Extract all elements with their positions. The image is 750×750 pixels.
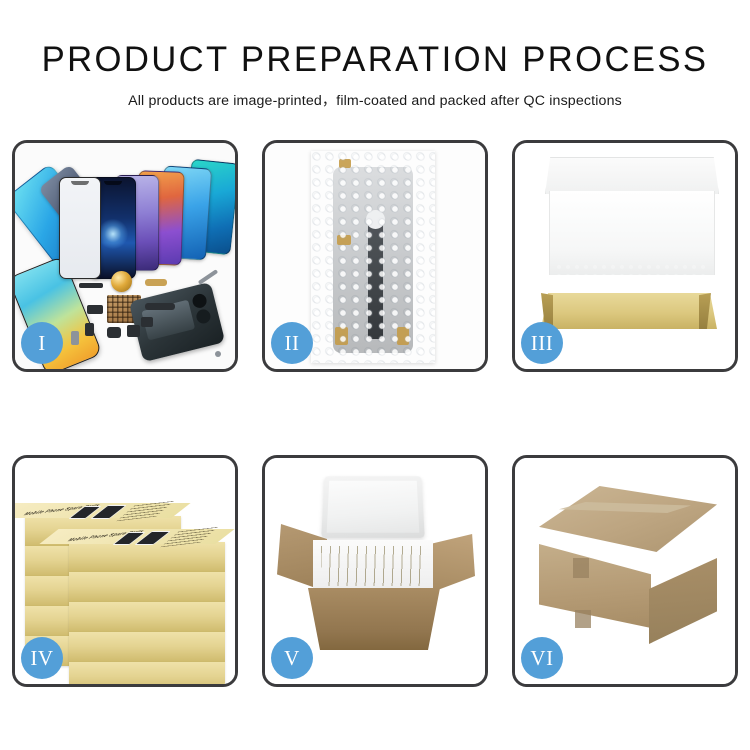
glass-notch-cutout xyxy=(71,181,89,185)
stacked-box-front-3 xyxy=(69,602,225,632)
process-steps-grid: I II xyxy=(12,140,738,687)
carton-front-face xyxy=(539,544,651,628)
tempered-glass-protector xyxy=(59,177,101,279)
tiny-chip-part xyxy=(85,323,94,336)
step-badge-1: I xyxy=(21,322,63,364)
box-lid-face: Mobile Phone Spare Parts xyxy=(15,503,191,518)
step-badge-4: IV xyxy=(21,637,63,679)
box-lid-open xyxy=(545,157,719,194)
gold-tape-bottom-right xyxy=(397,327,409,345)
flex-strip-part xyxy=(79,283,103,288)
step-panel-1: I xyxy=(12,140,238,372)
stacked-box-front-4 xyxy=(69,632,225,662)
carton-body-open xyxy=(299,588,449,650)
step-panel-3: III xyxy=(512,140,738,372)
step-panel-2: II xyxy=(262,140,488,372)
box-front-wall xyxy=(541,293,717,329)
display-flex-cable xyxy=(368,223,383,339)
carton-flap-right xyxy=(427,534,475,594)
stacked-box-front-2 xyxy=(69,572,225,602)
packed-yellow-boxes xyxy=(321,546,425,586)
phone-screen-fan xyxy=(71,161,231,271)
page-subtitle: All products are image-printed，film-coat… xyxy=(0,79,750,110)
screen-glow xyxy=(98,219,128,249)
screwdriver-tool xyxy=(198,269,218,285)
carton-top-face xyxy=(539,486,717,552)
box-lid-face-front: Mobile Phone Spare Parts xyxy=(39,529,234,544)
step-badge-3: III xyxy=(521,322,563,364)
header: PRODUCT PREPARATION PROCESS All products… xyxy=(0,0,750,110)
speaker-part xyxy=(107,327,121,338)
step-panel-4: Mobile Phone Spare Parts Mobile Phone xyxy=(12,455,238,687)
step-badge-5: V xyxy=(271,637,313,679)
screw-part xyxy=(215,351,221,357)
gold-connector-part xyxy=(145,279,167,286)
step-panel-6: VI xyxy=(512,455,738,687)
foam-lid xyxy=(321,476,425,538)
step-panel-5: V xyxy=(262,455,488,687)
step-badge-6: VI xyxy=(521,637,563,679)
sim-tray-part xyxy=(71,331,79,345)
stacked-box-front-5 xyxy=(69,662,225,684)
product-preparation-infographic: PRODUCT PREPARATION PROCESS All products… xyxy=(0,0,750,750)
camera-module-part xyxy=(141,317,153,327)
ribbon-cable-part xyxy=(145,303,175,310)
gold-coil-part xyxy=(111,271,132,292)
gold-tape-middle xyxy=(337,235,351,245)
carton-flap-tab-upper xyxy=(573,558,589,578)
bubble-wrapped-contents xyxy=(555,263,707,295)
box-spec-lines xyxy=(116,501,174,522)
vibrator-part xyxy=(127,325,140,337)
page-title: PRODUCT PREPARATION PROCESS xyxy=(4,0,747,79)
bubble-wrap-bag xyxy=(311,151,435,363)
carton-flap-tab-lower xyxy=(575,610,591,628)
step-badge-2: II xyxy=(271,322,313,364)
stacked-box-front-1: Mobile Phone Spare Parts xyxy=(69,542,225,572)
small-module-part xyxy=(87,305,103,314)
carton-side-face xyxy=(649,558,717,644)
gold-tape-bottom-left xyxy=(335,327,348,345)
box-spec-lines-front xyxy=(160,527,218,548)
notch-cutout xyxy=(104,181,122,185)
gold-tape-top xyxy=(339,159,351,168)
